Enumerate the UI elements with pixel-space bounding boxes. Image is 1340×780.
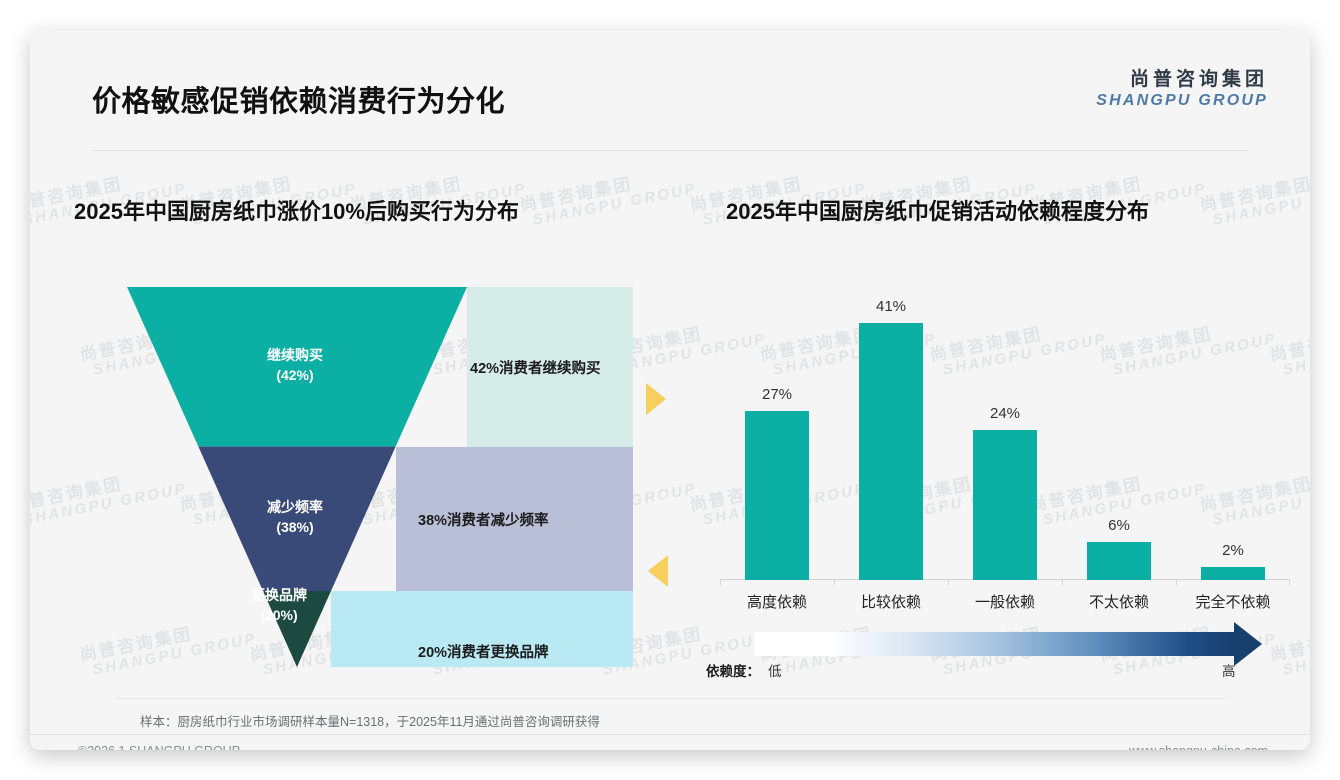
bar-value-label-1: 41%: [846, 298, 936, 315]
funnel-segment-label-line: (20%): [219, 605, 339, 625]
funnel-annotation-0: 42%消费者继续购买: [470, 357, 601, 378]
funnel-segment-label-0: 继续购买(42%): [235, 345, 355, 386]
axis-tick-3: [1062, 580, 1063, 585]
brand-logo: 尚普咨询集团 SHANGPU GROUP: [1096, 64, 1268, 110]
bar-value-label-4: 2%: [1188, 542, 1278, 559]
axis-tick-0: [720, 580, 721, 585]
left-chart-title: 2025年中国厨房纸巾涨价10%后购买行为分布: [74, 194, 519, 226]
gradient-arrow-icon: [1234, 622, 1262, 666]
bar-value-label-3: 6%: [1074, 517, 1164, 534]
bar-category-label-4: 完全不依赖: [1173, 591, 1293, 612]
funnel-segment-label-line: (42%): [235, 365, 355, 385]
slide-footer: ©2026.1 SHANGPU GROUP www.shangpu-china.…: [30, 735, 1310, 750]
axis-tick-5: [1289, 580, 1290, 585]
website-link[interactable]: www.shangpu-china.com: [1129, 744, 1268, 750]
logo-text-en: SHANGPU GROUP: [1096, 92, 1268, 110]
axis-tick-4: [1176, 580, 1177, 585]
bar-3[interactable]: [1087, 542, 1151, 580]
note-divider: [114, 698, 1226, 699]
funnel-segment-label-line: 更换品牌: [219, 585, 339, 605]
dependency-gradient-legend: 依赖度： 低 高: [706, 622, 1290, 680]
page-title: 价格敏感促销依赖消费行为分化: [92, 78, 505, 120]
gradient-bar: [754, 632, 1234, 656]
bar-4[interactable]: [1201, 567, 1265, 580]
funnel-shape: [30, 30, 690, 750]
funnel-segment-label-line: 减少频率: [235, 497, 355, 517]
funnel-segment-label-line: 继续购买: [235, 345, 355, 365]
bar-2[interactable]: [973, 430, 1037, 580]
copyright-text: ©2026.1 SHANGPU GROUP: [78, 744, 240, 750]
triangle-right-icon: [646, 383, 666, 415]
legend-low-label: 低: [768, 660, 782, 680]
funnel-chart: 继续购买(42%) 减少频率(38%) 更换品牌(20%) 42%消费者继续购买…: [30, 30, 690, 750]
logo-text-cn: 尚普咨询集团: [1096, 64, 1268, 91]
legend-high-label: 高: [1222, 660, 1236, 680]
bar-category-label-3: 不太依赖: [1059, 591, 1179, 612]
right-chart-title: 2025年中国厨房纸巾促销活动依赖程度分布: [726, 194, 1149, 226]
funnel-segment-label-line: (38%): [235, 517, 355, 537]
header-divider: [92, 150, 1248, 151]
bar-chart: 27%高度依赖41%比较依赖24%一般依赖6%不太依赖2%完全不依赖: [720, 280, 1290, 580]
bar-1[interactable]: [859, 323, 923, 580]
source-note: 样本：厨房纸巾行业市场调研样本量N=1318，于2025年11月通过尚普咨询调研…: [140, 711, 600, 730]
bar-0[interactable]: [745, 411, 809, 580]
funnel-annotation-1: 38%消费者减少频率: [418, 509, 549, 530]
slide-header: 价格敏感促销依赖消费行为分化 尚普咨询集团 SHANGPU GROUP: [30, 30, 1310, 120]
axis-tick-1: [834, 580, 835, 585]
legend-caption: 依赖度：: [706, 660, 760, 680]
funnel-segment-label-2: 更换品牌(20%): [219, 585, 339, 626]
bar-category-label-0: 高度依赖: [717, 591, 837, 612]
bar-category-label-2: 一般依赖: [945, 591, 1065, 612]
axis-tick-2: [948, 580, 949, 585]
funnel-annotation-2: 20%消费者更换品牌: [418, 641, 549, 662]
slide-card: 尚普咨询集团SHANGPU GROUP尚普咨询集团SHANGPU GROUP尚普…: [30, 30, 1310, 750]
triangle-left-icon: [648, 555, 668, 587]
bar-category-label-1: 比较依赖: [831, 591, 951, 612]
bar-value-label-0: 27%: [732, 386, 822, 403]
bar-value-label-2: 24%: [960, 405, 1050, 422]
funnel-segment-label-1: 减少频率(38%): [235, 497, 355, 538]
watermark-text: 尚普咨询集团SHANGPU GROUP: [1198, 163, 1310, 230]
